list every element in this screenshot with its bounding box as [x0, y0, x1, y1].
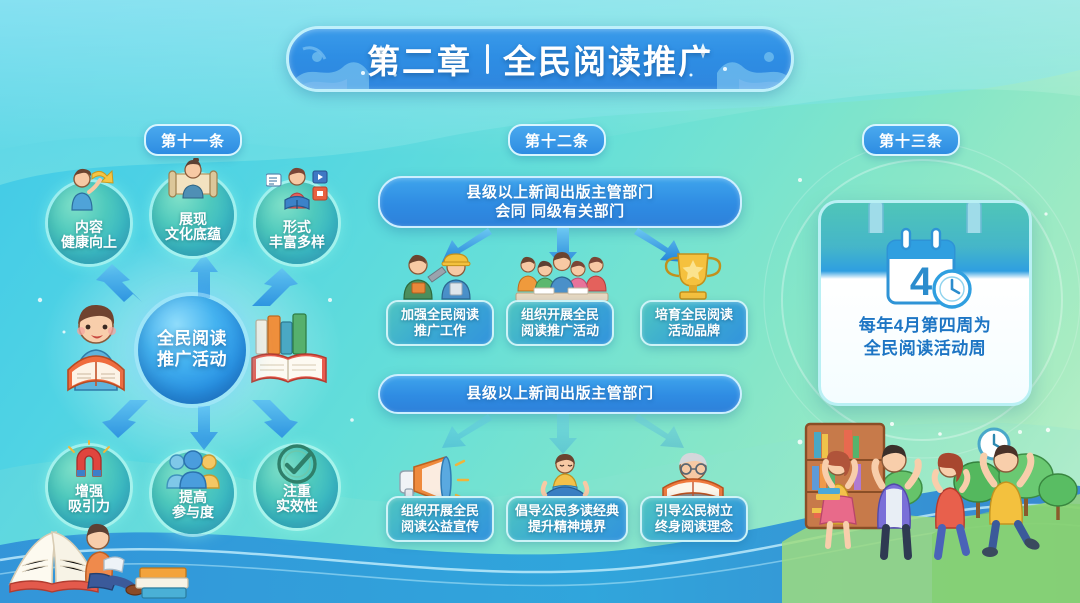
circle-effectiveness[interactable]: 注重 实效性: [256, 446, 338, 528]
circle-label: 形式 丰富多样: [269, 220, 325, 251]
title-main: 全民阅读推广: [503, 35, 713, 83]
page-title: 第二章 全民阅读推广: [286, 26, 794, 92]
person-raising-arrow-icon: [62, 166, 116, 212]
person-reading-media-icon: [266, 166, 328, 212]
stacked-books-illustration: [250, 312, 330, 388]
meditation-icon: [535, 453, 595, 501]
card-public-promotion[interactable]: 组织开展全民 阅读公益宣传: [386, 496, 494, 542]
elder-reading-icon: [655, 452, 731, 502]
students-group-icon: [512, 251, 612, 301]
card-lifelong-reading[interactable]: 引导公民树立 终身阅读理念: [640, 496, 748, 542]
circle-culture-heritage[interactable]: 展现 文化底蕴: [152, 174, 234, 256]
check-circle-icon: [273, 442, 321, 486]
section-pill-article-13[interactable]: 第十三条: [862, 124, 960, 156]
person-scroll-icon: [166, 158, 220, 204]
chapter-label: 第二章: [367, 35, 472, 83]
card-strengthen-promotion[interactable]: 加强全民阅读 推广工作: [386, 300, 494, 346]
circle-diverse-forms[interactable]: 形式 丰富多样: [256, 182, 338, 264]
boy-reading-book-illustration: [62, 300, 138, 396]
people-group-icon: [165, 450, 221, 490]
center-hub[interactable]: 全民阅读 推广活动: [138, 296, 246, 404]
page-title-banner: 第二章 全民阅读推广: [286, 26, 794, 92]
trophy-icon: [658, 250, 728, 302]
circle-content-healthy[interactable]: 内容 健康向上: [48, 182, 130, 264]
circle-label: 展现 文化底蕴: [165, 212, 221, 243]
section-pill-article-11[interactable]: 第十一条: [144, 124, 242, 156]
card-organize-activities[interactable]: 组织开展全民 阅读推广活动: [506, 300, 614, 346]
banner2-arrows: [398, 412, 728, 456]
section-pill-article-12[interactable]: 第十二条: [508, 124, 606, 156]
calendar-day-number: 4: [910, 260, 933, 304]
calendar-icon: 4: [876, 225, 978, 315]
circle-label: 注重 实效性: [276, 484, 318, 515]
card-read-classics[interactable]: 倡导公民多读经典 提升精神境界: [506, 496, 628, 542]
hub-label: 全民阅读 推广活动: [157, 329, 227, 370]
infographic-canvas: 第二章 全民阅读推广 第十一条 第十二条 第十三条: [0, 0, 1080, 603]
title-divider: [486, 44, 489, 74]
banner-authority-2[interactable]: 县级以上新闻出版主管部门: [378, 374, 742, 414]
banner-authority-1[interactable]: 县级以上新闻出版主管部门 会同 同级有关部门: [378, 176, 742, 228]
megaphone-icon: [392, 455, 476, 501]
people-celebrating-park-illustration: [782, 402, 1080, 603]
calendar-panel[interactable]: 4 每年4月第四周为 全民阅读活动周: [818, 200, 1032, 406]
circle-label: 内容 健康向上: [61, 220, 117, 251]
person-sitting-reading-illustration: [0, 508, 210, 603]
workers-icon: [392, 253, 484, 301]
magnet-icon: [65, 440, 113, 482]
card-cultivate-brand[interactable]: 培育全民阅读 活动品牌: [640, 300, 748, 346]
calendar-caption: 每年4月第四周为 全民阅读活动周: [821, 315, 1029, 361]
